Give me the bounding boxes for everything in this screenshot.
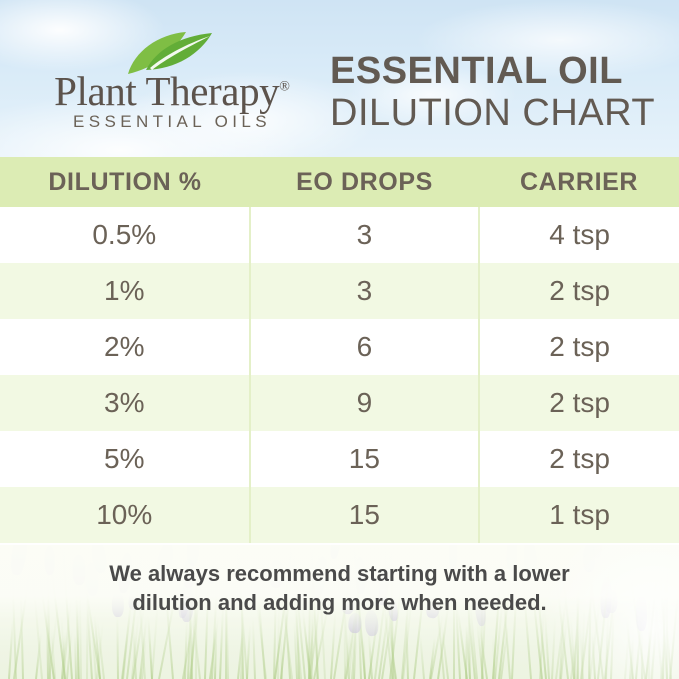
cell-carrier: 2 tsp: [478, 263, 679, 319]
table-header-row: DILUTION % EO DROPS CARRIER: [0, 157, 679, 207]
dilution-table: DILUTION % EO DROPS CARRIER 0.5% 3 4 tsp…: [0, 157, 679, 545]
dilution-chart-poster: Plant Therapy® ESSENTIAL OILS ESSENTIAL …: [0, 0, 679, 679]
table-row: 5% 15 2 tsp: [0, 431, 679, 487]
table-row: 10% 15 1 tsp: [0, 487, 679, 543]
column-header-eo-drops: EO DROPS: [250, 157, 479, 207]
column-header-carrier: CARRIER: [479, 157, 679, 207]
table-row: 1% 3 2 tsp: [0, 263, 679, 319]
cell-carrier: 1 tsp: [478, 487, 679, 543]
registered-mark: ®: [279, 79, 290, 94]
footer-note-line-2: dilution and adding more when needed.: [0, 588, 679, 617]
table-row: 3% 9 2 tsp: [0, 375, 679, 431]
cell-dilution: 1%: [0, 263, 249, 319]
cell-eo-drops: 15: [249, 431, 479, 487]
brand-tagline: ESSENTIAL OILS: [36, 112, 308, 132]
title-line-2: DILUTION CHART: [330, 92, 650, 134]
footer-lavender-band: We always recommend starting with a lowe…: [0, 545, 679, 679]
cell-carrier: 2 tsp: [478, 319, 679, 375]
cell-carrier: 2 tsp: [478, 431, 679, 487]
title-line-1: ESSENTIAL OIL: [330, 50, 650, 92]
cell-eo-drops: 15: [249, 487, 479, 543]
cell-dilution: 10%: [0, 487, 249, 543]
footer-note-line-1: We always recommend starting with a lowe…: [0, 559, 679, 588]
footer-note: We always recommend starting with a lowe…: [0, 559, 679, 617]
cell-carrier: 4 tsp: [478, 207, 679, 263]
brand-name: Plant Therapy®: [36, 67, 308, 115]
cell-eo-drops: 6: [249, 319, 479, 375]
table-row: 2% 6 2 tsp: [0, 319, 679, 375]
table-row: 0.5% 3 4 tsp: [0, 207, 679, 263]
cell-eo-drops: 3: [249, 263, 479, 319]
cell-eo-drops: 9: [249, 375, 479, 431]
page-title: ESSENTIAL OIL DILUTION CHART: [330, 50, 650, 134]
column-header-dilution: DILUTION %: [0, 157, 250, 207]
cell-dilution: 2%: [0, 319, 249, 375]
cell-dilution: 5%: [0, 431, 249, 487]
brand-name-text: Plant Therapy: [54, 68, 279, 114]
cell-carrier: 2 tsp: [478, 375, 679, 431]
cell-eo-drops: 3: [249, 207, 479, 263]
cell-dilution: 3%: [0, 375, 249, 431]
cell-dilution: 0.5%: [0, 207, 249, 263]
